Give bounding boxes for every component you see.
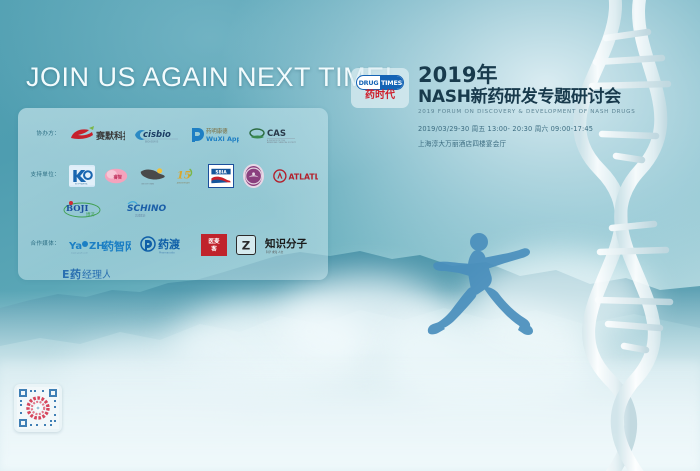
event-venue: 上海淳大万丽酒店四楼宴会厅 [418, 138, 648, 148]
sponsor-label-media: 合作媒体： [26, 242, 60, 248]
svg-text:ATLATL: ATLATL [289, 172, 318, 181]
logo-cas: CAS A DIVISION OF THE AMERICAN CHEMICAL … [248, 125, 296, 145]
cloud-puff [280, 275, 450, 365]
badge-drug-text: DRUG [357, 76, 380, 89]
svg-text:科学 求知 人文: 科学 求知 人文 [266, 250, 284, 254]
svg-text:博济: 博济 [86, 211, 95, 218]
logo-saier: 赛默科技 [69, 125, 125, 145]
logo-gray-mark: BIOCYTOGEN [139, 165, 166, 187]
svg-text:SBIA: SBIA [215, 169, 227, 175]
svg-text:www.yaozh.com: www.yaozh.com [71, 252, 88, 254]
sponsor-panel: 协办方： 赛默科技 cisbio BIOASSAYS [18, 108, 328, 280]
logo-yaodu: 药渡 Pharmacodia [140, 236, 192, 255]
logo-pink-mark: 睿智 [104, 166, 130, 186]
logo-atlatl: ATLATL [273, 167, 318, 185]
logo-purple-circle [243, 164, 264, 188]
svg-text:药渡: 药渡 [158, 237, 181, 251]
running-figure-silhouette [425, 228, 560, 343]
sponsor-row-supporters-2: BOJI 博济 SCHINO 思成医药 [26, 196, 318, 222]
sponsor-label-supporters: 支持单位： [26, 173, 60, 179]
logo-red-box: 医麦 客 [201, 234, 227, 256]
svg-text:经理人: 经理人 [82, 268, 110, 281]
badge-times-text: TIMES [380, 76, 403, 89]
svg-text:思成医药: 思成医药 [135, 214, 146, 218]
svg-text:SCHINO: SCHINO [127, 204, 167, 214]
event-year: 2019年 [418, 64, 648, 87]
logo-zhishifenzi: 知识分子 科学 求知 人文 [265, 236, 315, 255]
svg-text:药: 药 [70, 267, 81, 281]
svg-text:赛默科技: 赛默科技 [95, 130, 125, 142]
svg-text:客: 客 [210, 245, 217, 253]
logo-wuxi-apptec: 药明康德 WuXi AppTec [189, 125, 239, 145]
sponsor-row-media: 合作媒体： Ya ZH 药智网 www.yaozh.com 药渡 Pharmac… [26, 231, 318, 259]
svg-text:BIOPHARMA: BIOPHARMA [75, 183, 88, 186]
sponsor-row-supporters: 支持单位： BIOPHARMA 睿智 [26, 160, 318, 192]
brand-logo: DRUG TIMES 药时代 [351, 68, 409, 108]
svg-text:药智网: 药智网 [103, 239, 131, 253]
svg-text:WuXi AppTec: WuXi AppTec [206, 135, 239, 143]
bottom-mist [0, 360, 700, 471]
drug-times-badge: DRUG TIMES [356, 75, 404, 90]
svg-text:BOJI: BOJI [66, 203, 88, 213]
logo-yaozh: Ya ZH 药智网 www.yaozh.com [69, 236, 131, 254]
logo-z-box: Z [236, 235, 256, 255]
sponsor-row-co-organizers: 协办方： 赛默科技 cisbio BIOASSAYS [26, 119, 318, 151]
logo-sbia: SBIA [208, 164, 234, 188]
svg-text:Pharmacodia: Pharmacodia [159, 251, 175, 254]
svg-text:ANNIVERSARY: ANNIVERSARY [177, 182, 191, 185]
svg-text:BIOCYTOGEN: BIOCYTOGEN [141, 184, 154, 186]
cloud-puff [380, 305, 600, 415]
sponsor-label-co-organizers: 协办方： [26, 132, 60, 138]
event-title-cn: NASH新药研发专题研讨会 [418, 87, 648, 107]
svg-text:Ya: Ya [69, 241, 82, 252]
page-title: JOIN US AGAIN NEXT TIME! [26, 62, 393, 93]
svg-text:知识分子: 知识分子 [265, 237, 307, 250]
svg-text:Z: Z [242, 239, 250, 253]
logo-anniversary-15: 15 ANNIVERSARY [175, 165, 199, 187]
logo-eyao-jinglirn: E 药 经理人 [62, 265, 110, 281]
poster-canvas: JOIN US AGAIN NEXT TIME! 协办方： 赛默科技 cisbi… [0, 0, 700, 471]
cloud-puff [60, 340, 250, 430]
svg-text:BIOASSAYS: BIOASSAYS [145, 141, 159, 144]
svg-text:医麦: 医麦 [208, 237, 220, 245]
svg-text:药明康德: 药明康德 [206, 127, 228, 135]
logo-boji: BOJI 博济 [62, 199, 108, 219]
cloud-puff [170, 300, 370, 395]
svg-text:AMERICAN CHEMICAL SOCIETY: AMERICAN CHEMICAL SOCIETY [267, 141, 296, 144]
qr-code[interactable] [14, 384, 62, 432]
sponsor-row-media-2: E 药 经理人 [26, 262, 318, 284]
logo-schino: SCHINO 思成医药 [126, 200, 170, 218]
event-title-block: 2019年 NASH新药研发专题研讨会 2019 FORUM ON DISCOV… [418, 64, 648, 148]
cloud-puff [470, 250, 650, 345]
brand-name-cn: 药时代 [365, 91, 395, 101]
event-date: 2019/03/29-30 周五 13:00- 20:30 周六 09:00-1… [418, 123, 648, 133]
logo-cisbio: cisbio BIOASSAYS [134, 126, 180, 144]
svg-text:cisbio: cisbio [143, 130, 171, 140]
svg-text:15: 15 [177, 170, 191, 182]
svg-text:CAS: CAS [267, 129, 286, 139]
event-title-en: 2019 FORUM ON DISCOVERY & DEVELOPMENT OF… [418, 109, 648, 115]
logo-ko: BIOPHARMA [69, 165, 95, 187]
svg-text:E: E [62, 268, 70, 281]
